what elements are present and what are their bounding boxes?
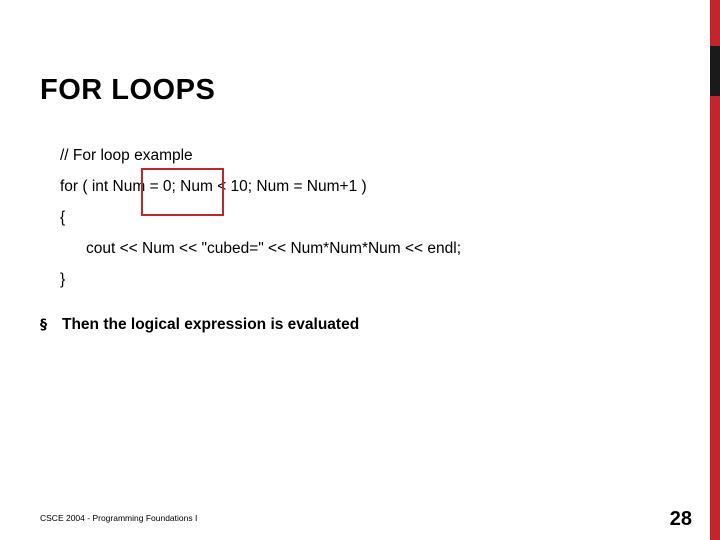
code-line: for ( int Num = 0; Num < 10; Num = Num+1… (60, 171, 620, 202)
edge-accent-bar-top (710, 0, 720, 46)
slide: FOR LOOPS // For loop example for ( int … (0, 0, 720, 540)
footer-course-label: CSCE 2004 - Programming Foundations I (40, 513, 197, 523)
slide-title: FOR LOOPS (40, 74, 215, 107)
code-line: cout << Num << "cubed=" << Num*Num*Num <… (60, 233, 620, 264)
code-line: // For loop example (60, 140, 620, 171)
bullet-item-label: Then the logical expression is evaluated (62, 314, 359, 336)
bullet-item: § Then the logical expression is evaluat… (40, 314, 359, 336)
edge-accent-bar-middle (710, 46, 720, 96)
section-bullet-icon: § (40, 314, 62, 336)
code-block: // For loop example for ( int Num = 0; N… (60, 140, 620, 295)
code-line: } (60, 264, 620, 295)
edge-accent-bar-bottom (710, 96, 720, 540)
slide-number: 28 (670, 508, 692, 531)
code-line: { (60, 202, 620, 233)
